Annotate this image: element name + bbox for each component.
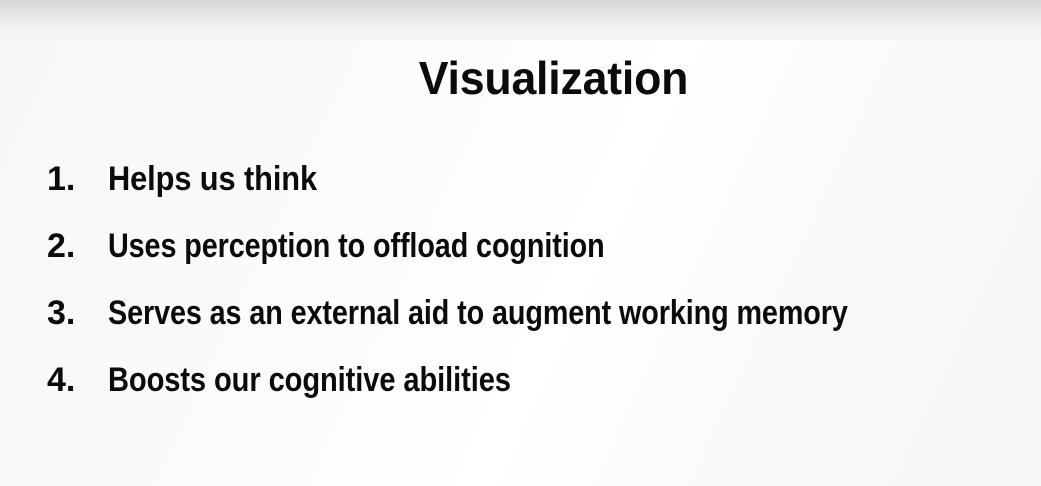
list-item: 4. Boosts our cognitive abilities (0, 358, 1041, 425)
slide-content: Visualization 1. Helps us think 2. Uses … (0, 0, 1041, 486)
list-item: 3. Serves as an external aid to augment … (0, 291, 1041, 358)
list-item: 2. Uses perception to offload cognition (0, 224, 1041, 291)
list-item: 1. Helps us think (0, 157, 1041, 224)
list-item-text: Serves as an external aid to augment wor… (108, 291, 848, 335)
list-item-number: 1. (47, 157, 99, 201)
list-item-number: 3. (47, 291, 99, 335)
presentation-slide: Visualization 1. Helps us think 2. Uses … (0, 0, 1041, 486)
list-item-number: 4. (47, 358, 99, 402)
list-item-text: Boosts our cognitive abilities (108, 358, 511, 402)
slide-title: Visualization (49, 52, 1041, 104)
numbered-list: 1. Helps us think 2. Uses perception to … (0, 157, 1041, 425)
list-item-text: Helps us think (108, 157, 317, 201)
list-item-text: Uses perception to offload cognition (108, 224, 605, 268)
list-item-number: 2. (47, 224, 99, 268)
